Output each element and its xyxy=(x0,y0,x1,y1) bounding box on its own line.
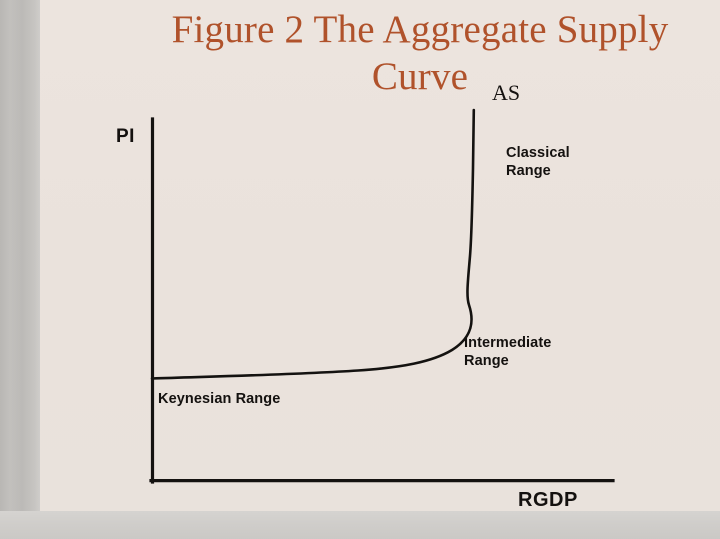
aggregate-supply-chart: PI RGDP AS Classical Range Intermediate … xyxy=(40,0,720,511)
slide-viewer: Figure 2 The Aggregate Supply Curve PI R… xyxy=(0,0,720,539)
intermediate-range-line-1: Intermediate xyxy=(464,334,551,352)
as-curve-label: AS xyxy=(492,80,520,106)
chart-svg xyxy=(40,0,720,511)
classical-range-line-1: Classical xyxy=(506,144,570,162)
classical-range-line-2: Range xyxy=(506,162,570,180)
intermediate-range-line-2: Range xyxy=(464,352,551,370)
keynesian-range-label: Keynesian Range xyxy=(158,390,280,408)
classical-range-label: Classical Range xyxy=(506,144,570,180)
as-curve xyxy=(152,110,474,379)
presentation-slide: Figure 2 The Aggregate Supply Curve PI R… xyxy=(40,0,720,511)
slide-bottom-texture xyxy=(0,511,720,539)
intermediate-range-label: Intermediate Range xyxy=(464,334,551,370)
x-axis-label: RGDP xyxy=(518,489,578,511)
slide-bottom-margin xyxy=(0,511,720,539)
y-axis-label: PI xyxy=(116,126,135,148)
